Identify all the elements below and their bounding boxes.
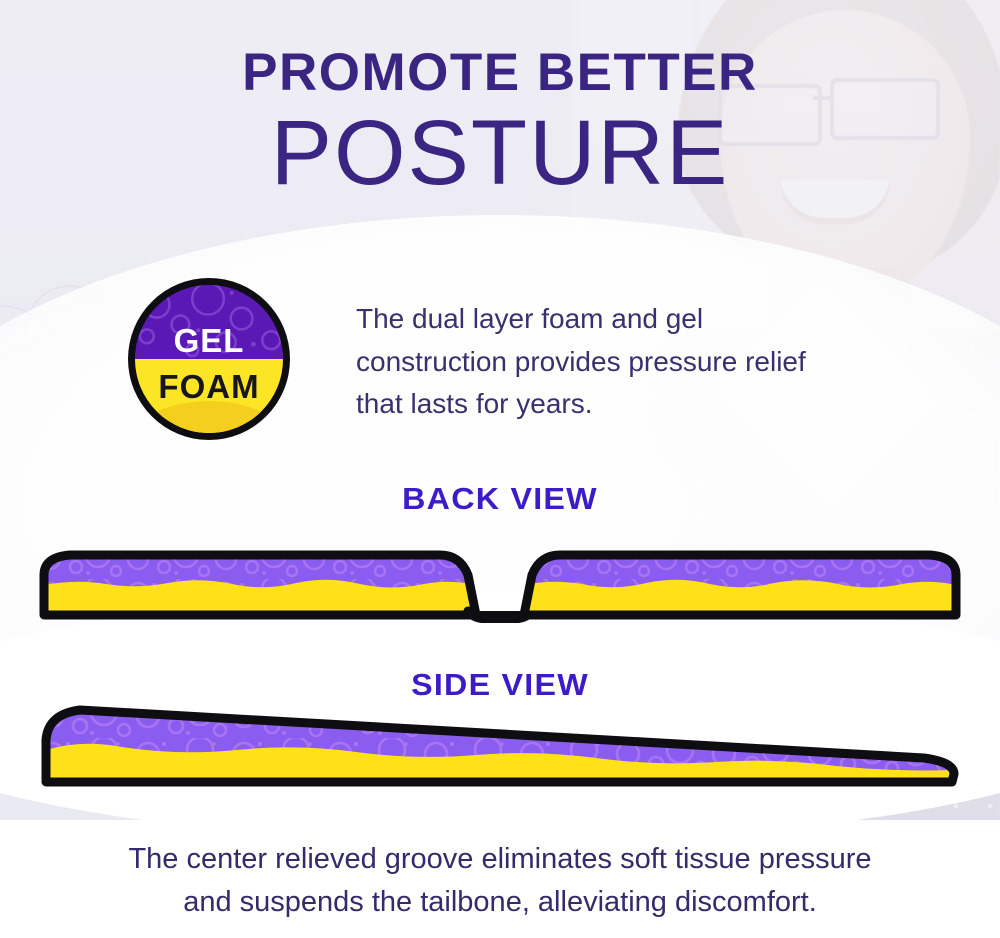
intro-paragraph: The dual layer foam and gel construction… <box>356 298 826 426</box>
page-title: PROMOTE BETTER POSTURE <box>0 46 1000 203</box>
badge-gel-label: GEL <box>135 322 283 360</box>
infographic-poster: PROMOTE BETTER POSTURE <box>0 0 1000 938</box>
back-view-illustration <box>36 545 964 623</box>
side-view-label: SIDE VIEW <box>0 667 1000 703</box>
caption-line-1: The center relieved groove eliminates so… <box>54 838 946 881</box>
back-view-label: BACK VIEW <box>0 481 1000 517</box>
side-view-illustration <box>36 700 964 792</box>
gel-foam-badge: GEL FOAM <box>128 278 290 440</box>
headline-line-1: PROMOTE BETTER <box>0 46 1000 99</box>
caption-line-2: and suspends the tailbone, alleviating d… <box>54 881 946 924</box>
gel-foam-badge-inner: GEL FOAM <box>135 285 283 433</box>
badge-foam-label: FOAM <box>135 368 283 406</box>
headline-line-2: POSTURE <box>0 105 1000 203</box>
bottom-caption: The center relieved groove eliminates so… <box>0 838 1000 924</box>
